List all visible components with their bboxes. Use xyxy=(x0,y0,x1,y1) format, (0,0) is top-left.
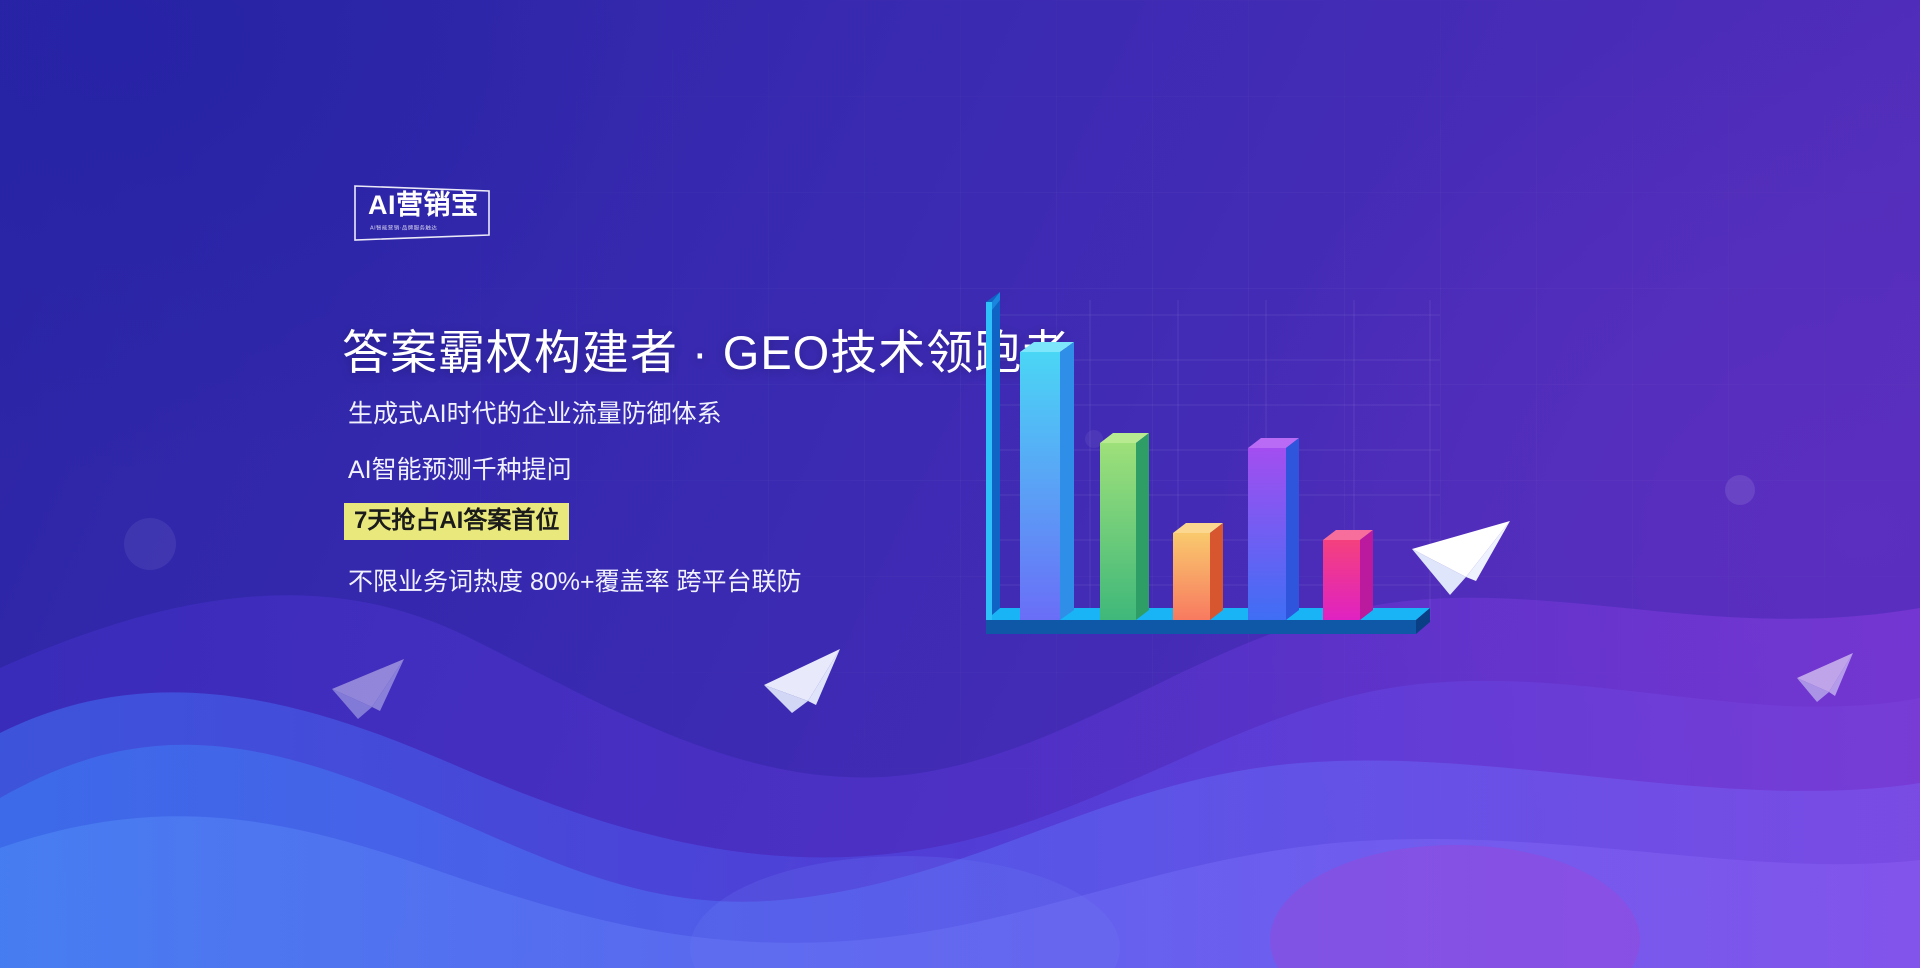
decor-circle-right xyxy=(1725,475,1755,505)
paper-plane-mid-icon xyxy=(762,645,846,715)
chart-bar-1 xyxy=(1020,342,1074,620)
subtitle-line-1: 生成式AI时代的企业流量防御体系 xyxy=(348,394,722,430)
highlight-wrapper: 7天抢占AI答案首位 xyxy=(344,503,569,540)
chart-bar-2 xyxy=(1100,433,1149,620)
chart-bar-3 xyxy=(1173,523,1223,620)
chart-y-axis xyxy=(986,292,1000,620)
chart-bar-4 xyxy=(1248,438,1299,620)
subtitle-line-3: 不限业务词热度 80%+覆盖率 跨平台联防 xyxy=(348,562,802,598)
chart-bar-5 xyxy=(1323,530,1373,620)
logo-wordmark: AI营销宝 xyxy=(368,192,480,219)
paper-plane-left-icon xyxy=(330,655,410,721)
brand-logo[interactable]: AI营销宝 AI智能营销·品牌服务触达 xyxy=(352,182,492,244)
bar-chart-illustration xyxy=(960,290,1480,670)
paper-plane-far-right-icon xyxy=(1795,650,1859,704)
subtitle-line-2: AI智能预测千种提问 xyxy=(348,450,572,486)
highlight-badge: 7天抢占AI答案首位 xyxy=(344,503,569,540)
paper-plane-right-icon xyxy=(1410,515,1514,601)
hero-banner: AI营销宝 AI智能营销·品牌服务触达 答案霸权构建者 · GEO技术领跑者 生… xyxy=(0,0,1920,968)
logo-tagline: AI智能营销·品牌服务触达 xyxy=(370,224,478,232)
